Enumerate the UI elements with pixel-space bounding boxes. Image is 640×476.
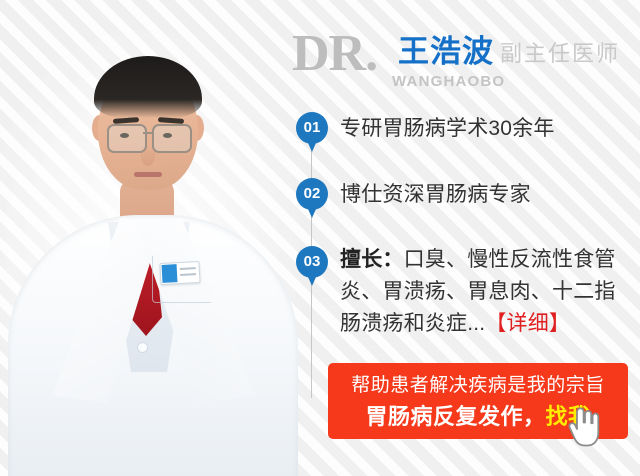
doctor-mouth — [134, 172, 162, 177]
detail-link[interactable]: 【详细】 — [485, 312, 570, 335]
specialty-label: 擅长： — [340, 248, 404, 271]
badge-photo-area — [162, 264, 178, 283]
pin-number: 03 — [296, 246, 328, 278]
pin-marker-icon: 03 — [296, 246, 328, 288]
point-text-3: 擅长：口臭、慢性反流性食管炎、胃溃疡、胃息肉、十二指肠溃疡和炎症...【详细】 — [340, 244, 636, 340]
cta-line-2-prefix: 胃肠病反复发作， — [365, 404, 545, 429]
doctor-nose — [141, 146, 155, 166]
point-text-2: 博仕资深胃肠病专家 — [340, 179, 636, 210]
glasses-lens-right — [152, 124, 192, 153]
hand-pointer-icon — [566, 405, 602, 449]
glasses-bridge — [143, 132, 152, 134]
cta-line-1: 帮助患者解决疾病是我的宗旨 — [328, 371, 628, 401]
pin-marker-icon: 02 — [296, 178, 328, 220]
doctor-name-pinyin: WANGHAOBO — [392, 73, 505, 91]
doctor-promo-banner: DR. 王浩波 副主任医师 WANGHAOBO 01 专研胃肠病学术30余年 0… — [0, 0, 640, 476]
point-text-1: 专研胃肠病学术30余年 — [340, 113, 636, 144]
credentials-timeline: 01 专研胃肠病学术30余年 02 博仕资深胃肠病专家 03 擅长：口臭、慢性反… — [296, 112, 636, 362]
doctor-title-block: DR. 王浩波 副主任医师 WANGHAOBO — [292, 28, 632, 100]
coat-button — [137, 342, 148, 353]
doctor-id-badge — [159, 261, 200, 285]
pin-marker-icon: 01 — [296, 112, 328, 154]
pin-number: 01 — [296, 112, 328, 144]
dr-wordmark: DR. — [292, 28, 377, 80]
badge-text-line — [180, 267, 196, 270]
pin-number: 02 — [296, 178, 328, 210]
badge-text-line — [180, 273, 196, 276]
doctor-portrait-photo — [0, 0, 300, 476]
doctor-rank: 副主任医师 — [500, 40, 620, 68]
doctor-name: 王浩波 — [398, 34, 494, 70]
